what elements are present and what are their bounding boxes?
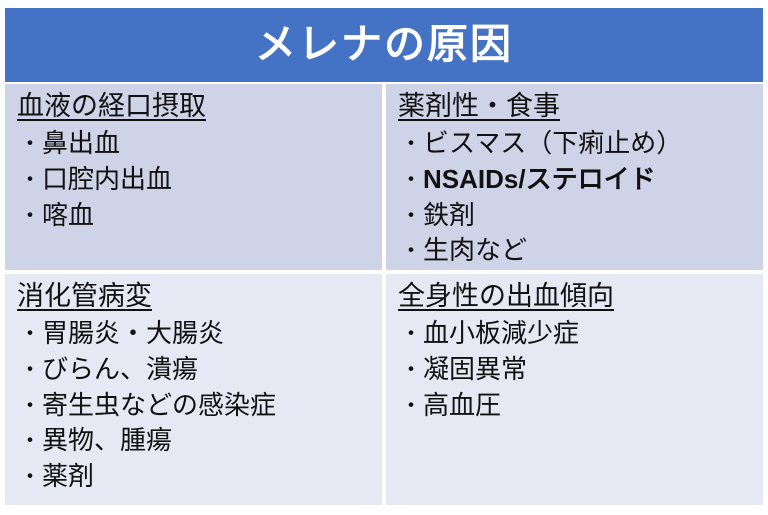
bullet-dot-icon: ・ — [400, 319, 422, 349]
list-item-label: 鼻出血 — [42, 126, 120, 162]
bullet-dot-icon: ・ — [19, 129, 41, 159]
quadrant-heading: 薬剤性・食事 — [398, 90, 755, 124]
quadrant-bottom-left: 消化管病変 ・ 胃腸炎・大腸炎 ・ びらん、潰瘍 ・ 寄生虫などの感染症 ・ 異… — [5, 274, 382, 505]
list-item-label: 高血圧 — [423, 388, 501, 424]
list-item-label: 口腔内出血 — [42, 162, 172, 198]
slide-title: メレナの原因 — [255, 24, 513, 65]
list-item: ・ 鉄剤 — [400, 198, 755, 234]
list-item: ・ びらん、潰瘍 — [19, 352, 374, 388]
list-item-label: NSAIDs/ステロイド — [423, 162, 656, 198]
list-item: ・ ビスマス（下痢止め） — [400, 126, 755, 162]
bullet-dot-icon: ・ — [400, 355, 422, 385]
bullet-dot-icon: ・ — [19, 462, 41, 492]
list-item: ・ 異物、腫瘍 — [19, 423, 374, 459]
quadrant-list: ・ ビスマス（下痢止め） ・ NSAIDs/ステロイド ・ 鉄剤 ・ 生肉など — [394, 126, 755, 270]
list-item-label: 喀血 — [42, 198, 94, 234]
quadrant-top-right: 薬剤性・食事 ・ ビスマス（下痢止め） ・ NSAIDs/ステロイド ・ 鉄剤 … — [386, 84, 763, 270]
bullet-dot-icon: ・ — [400, 129, 422, 159]
list-item-label: 血小板減少症 — [423, 316, 579, 352]
bullet-dot-icon: ・ — [400, 391, 422, 421]
list-item: ・ 高血圧 — [400, 388, 755, 424]
quadrant-bottom-right: 全身性の出血傾向 ・ 血小板減少症 ・ 凝固異常 ・ 高血圧 — [386, 274, 763, 505]
bullet-dot-icon: ・ — [400, 201, 422, 231]
list-item-label: 鉄剤 — [423, 198, 475, 234]
list-item: ・ 凝固異常 — [400, 352, 755, 388]
bullet-dot-icon: ・ — [400, 165, 422, 195]
quadrant-top-left: 血液の経口摂取 ・ 鼻出血 ・ 口腔内出血 ・ 喀血 — [5, 84, 382, 270]
list-item: ・ 胃腸炎・大腸炎 — [19, 316, 374, 352]
list-item-label: びらん、潰瘍 — [42, 352, 198, 388]
bullet-dot-icon: ・ — [400, 236, 422, 266]
list-item: ・ 喀血 — [19, 198, 374, 234]
list-item-label: 異物、腫瘍 — [42, 423, 172, 459]
quadrant-list: ・ 鼻出血 ・ 口腔内出血 ・ 喀血 — [13, 126, 374, 234]
bullet-dot-icon: ・ — [19, 391, 41, 421]
bullet-dot-icon: ・ — [19, 355, 41, 385]
content-grid: 血液の経口摂取 ・ 鼻出血 ・ 口腔内出血 ・ 喀血 薬剤性・食事 — [5, 84, 763, 505]
list-item: ・ 血小板減少症 — [400, 316, 755, 352]
list-item: ・ 寄生虫などの感染症 — [19, 388, 374, 424]
list-item: ・ 生肉など — [400, 233, 755, 269]
quadrant-list: ・ 血小板減少症 ・ 凝固異常 ・ 高血圧 — [394, 316, 755, 424]
quadrant-heading: 消化管病変 — [17, 280, 374, 314]
slide-title-banner: メレナの原因 — [5, 8, 763, 82]
list-item-label: 凝固異常 — [423, 352, 527, 388]
bullet-dot-icon: ・ — [19, 319, 41, 349]
list-item-label: 生肉など — [423, 233, 527, 269]
list-item-label: 寄生虫などの感染症 — [42, 388, 276, 424]
list-item-label: ビスマス（下痢止め） — [423, 126, 682, 162]
list-item-label: 薬剤 — [42, 459, 94, 495]
list-item: ・ 鼻出血 — [19, 126, 374, 162]
quadrant-list: ・ 胃腸炎・大腸炎 ・ びらん、潰瘍 ・ 寄生虫などの感染症 ・ 異物、腫瘍 ・ — [13, 316, 374, 495]
list-item: ・ 薬剤 — [19, 459, 374, 495]
slide-canvas: メレナの原因 血液の経口摂取 ・ 鼻出血 ・ 口腔内出血 ・ 喀血 — [0, 0, 768, 515]
list-item: ・ 口腔内出血 — [19, 162, 374, 198]
list-item: ・ NSAIDs/ステロイド — [400, 162, 755, 198]
list-item-label: 胃腸炎・大腸炎 — [42, 316, 224, 352]
bullet-dot-icon: ・ — [19, 201, 41, 231]
quadrant-heading: 血液の経口摂取 — [17, 90, 374, 124]
quadrant-heading: 全身性の出血傾向 — [398, 280, 755, 314]
bullet-dot-icon: ・ — [19, 426, 41, 456]
bullet-dot-icon: ・ — [19, 165, 41, 195]
